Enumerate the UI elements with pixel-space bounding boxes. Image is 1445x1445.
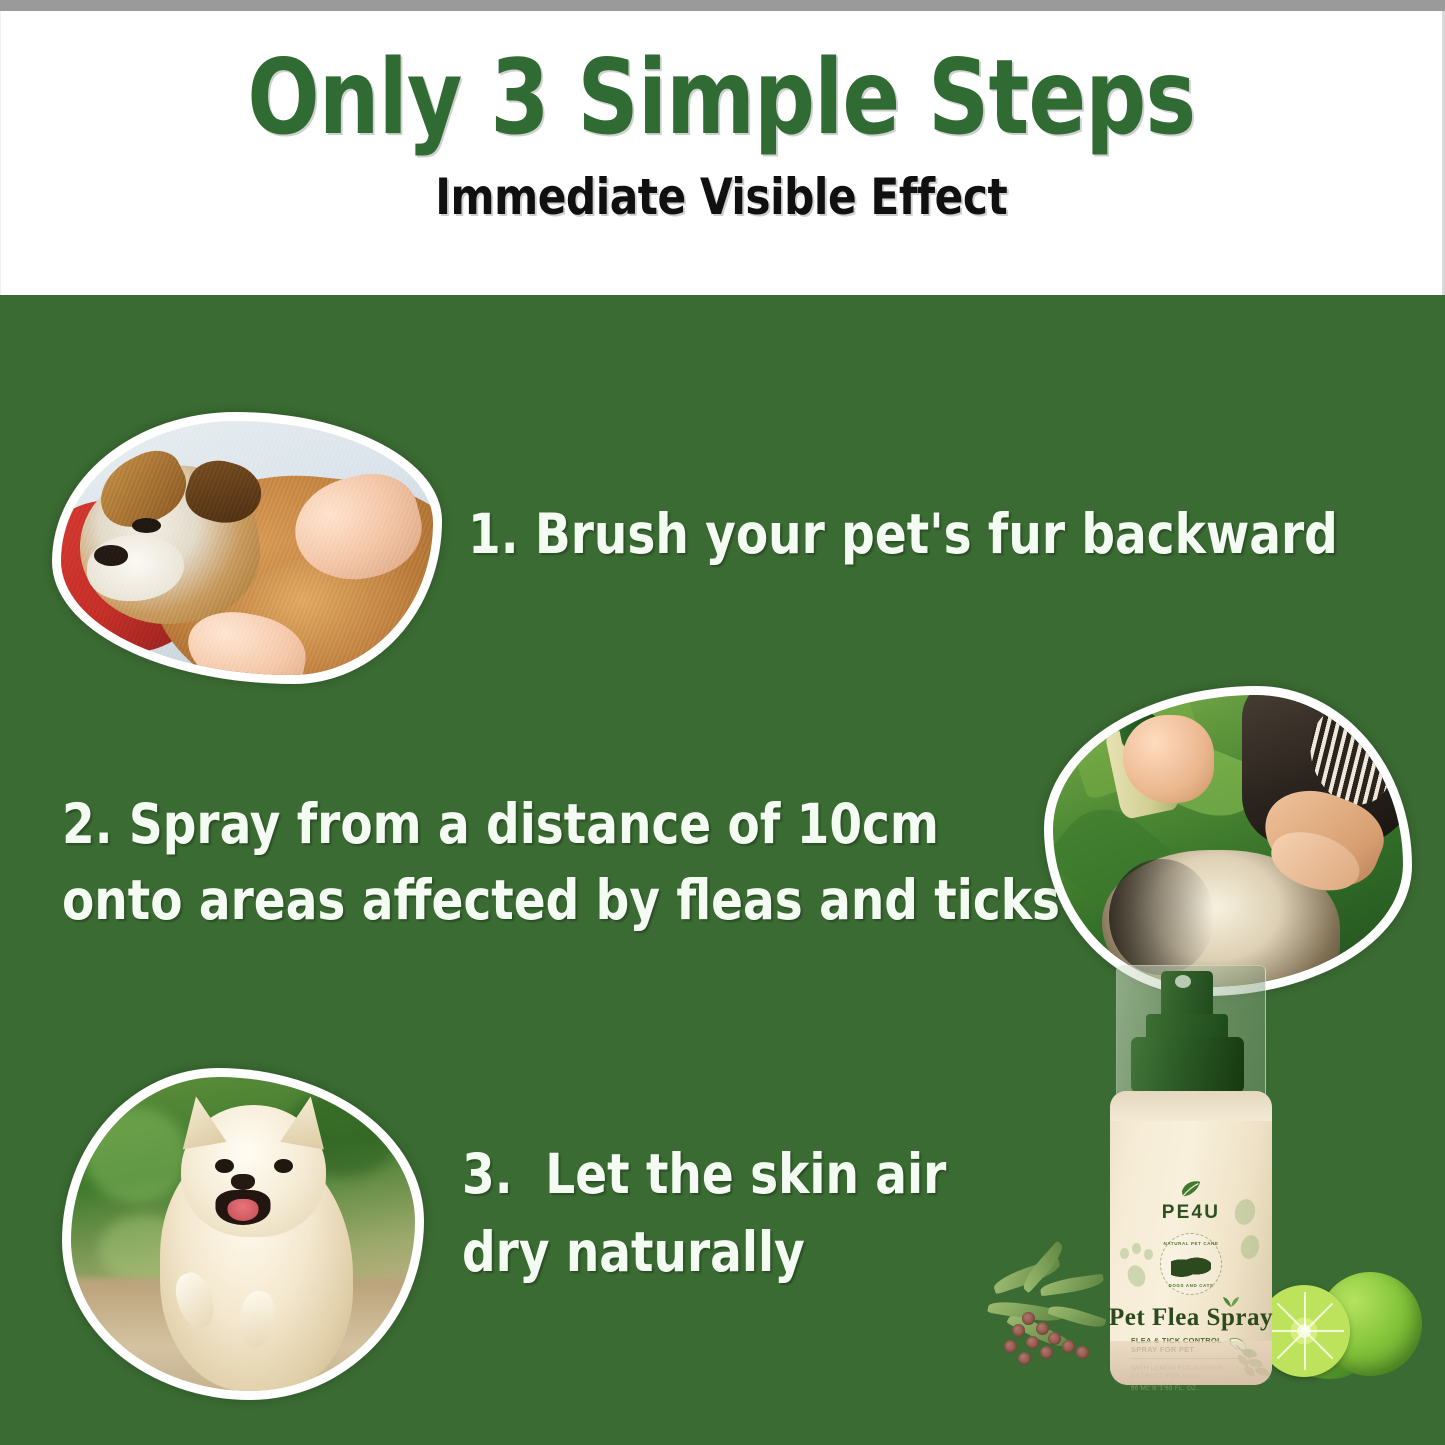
eucalyptus-pod: [1018, 1352, 1031, 1365]
photo-spraying-cat: [1044, 686, 1412, 996]
product-name: Pet Flea Spray: [1109, 1304, 1273, 1332]
lime-segment-line: [1277, 1330, 1306, 1359]
background-bokeh: [85, 1108, 188, 1202]
step-2-text: 2. Spray from a distance of 10cm onto ar…: [62, 786, 1060, 938]
badge-bottom-text: DOGS AND CATS: [1168, 1283, 1213, 1288]
photo-happy-pomeranian-image: [71, 1077, 415, 1391]
spray-nozzle-hole-icon: [1175, 975, 1191, 988]
pomeranian-eye-left: [215, 1159, 234, 1173]
bottle-base: [1110, 1341, 1272, 1385]
eucalyptus-pod: [1076, 1346, 1089, 1359]
page-subtitle: Immediate Visible Effect: [436, 168, 1008, 226]
infographic-page: Only 3 Simple Steps Immediate Visible Ef…: [0, 0, 1445, 1445]
pomeranian-eye-right: [274, 1159, 293, 1173]
brand-badge: NATURAL PET CARE DOGS AND CATS: [1160, 1233, 1222, 1295]
eucalyptus-pod: [1004, 1340, 1017, 1353]
photo-happy-pomeranian: [62, 1068, 424, 1400]
paw-print-icon: [1132, 1243, 1141, 1254]
lime-segment-line: [1304, 1331, 1306, 1370]
cat-markings: [1109, 859, 1214, 976]
step-3-text: 3. Let the skin air dry naturally: [462, 1135, 946, 1291]
product-bottle: PE4U NATURAL PET CARE DOGS AND CATS Pet …: [1102, 965, 1280, 1385]
product-volume: 50 ML ⊖ 1.69 FL. OZ.: [1131, 1385, 1198, 1392]
paw-print-icon: [1120, 1248, 1129, 1259]
header-banner: Only 3 Simple Steps Immediate Visible Ef…: [0, 11, 1445, 295]
photo-brushing-dog-fur: [52, 412, 442, 684]
eucalyptus-pod: [1022, 1312, 1035, 1325]
eucalyptus-pod: [1036, 1322, 1049, 1335]
brand-leaf-icon: [1180, 1179, 1202, 1199]
eucalyptus-pod: [1048, 1332, 1061, 1345]
fur-texture: [61, 421, 433, 675]
lime-segment-line: [1304, 1292, 1306, 1331]
paw-print-icon: [1144, 1249, 1153, 1260]
lime-segment-line: [1304, 1303, 1333, 1332]
photo-brushing-dog-fur-image: [61, 421, 433, 675]
brand-name: PE4U: [1162, 1202, 1220, 1224]
lime-segment-line: [1277, 1303, 1306, 1332]
eucalyptus-leaf: [1047, 1301, 1106, 1331]
eucalyptus-pod: [1040, 1346, 1053, 1359]
eucalyptus-leaf: [1039, 1274, 1104, 1297]
cat-and-dog-icon: [1171, 1252, 1211, 1278]
top-gray-strip: [0, 0, 1445, 11]
eucalyptus-pod: [1062, 1340, 1075, 1353]
eucalyptus-pod: [1012, 1324, 1025, 1337]
pomeranian-nose: [231, 1174, 255, 1190]
photo-spraying-cat-image: [1053, 695, 1403, 987]
spray-pump-base: [1131, 1037, 1244, 1093]
pomeranian-tongue: [228, 1199, 259, 1221]
bottle-shoulder: [1110, 1091, 1272, 1121]
page-title: Only 3 Simple Steps: [247, 45, 1195, 152]
step-1-text: 1. Brush your pet's fur backward: [468, 502, 1338, 566]
lime-segment-line: [1304, 1330, 1333, 1359]
badge-top-text: NATURAL PET CARE: [1164, 1241, 1219, 1246]
person-hand: [1123, 715, 1214, 803]
lime-segment-line: [1305, 1330, 1344, 1332]
eucalyptus-pod: [1026, 1336, 1039, 1349]
